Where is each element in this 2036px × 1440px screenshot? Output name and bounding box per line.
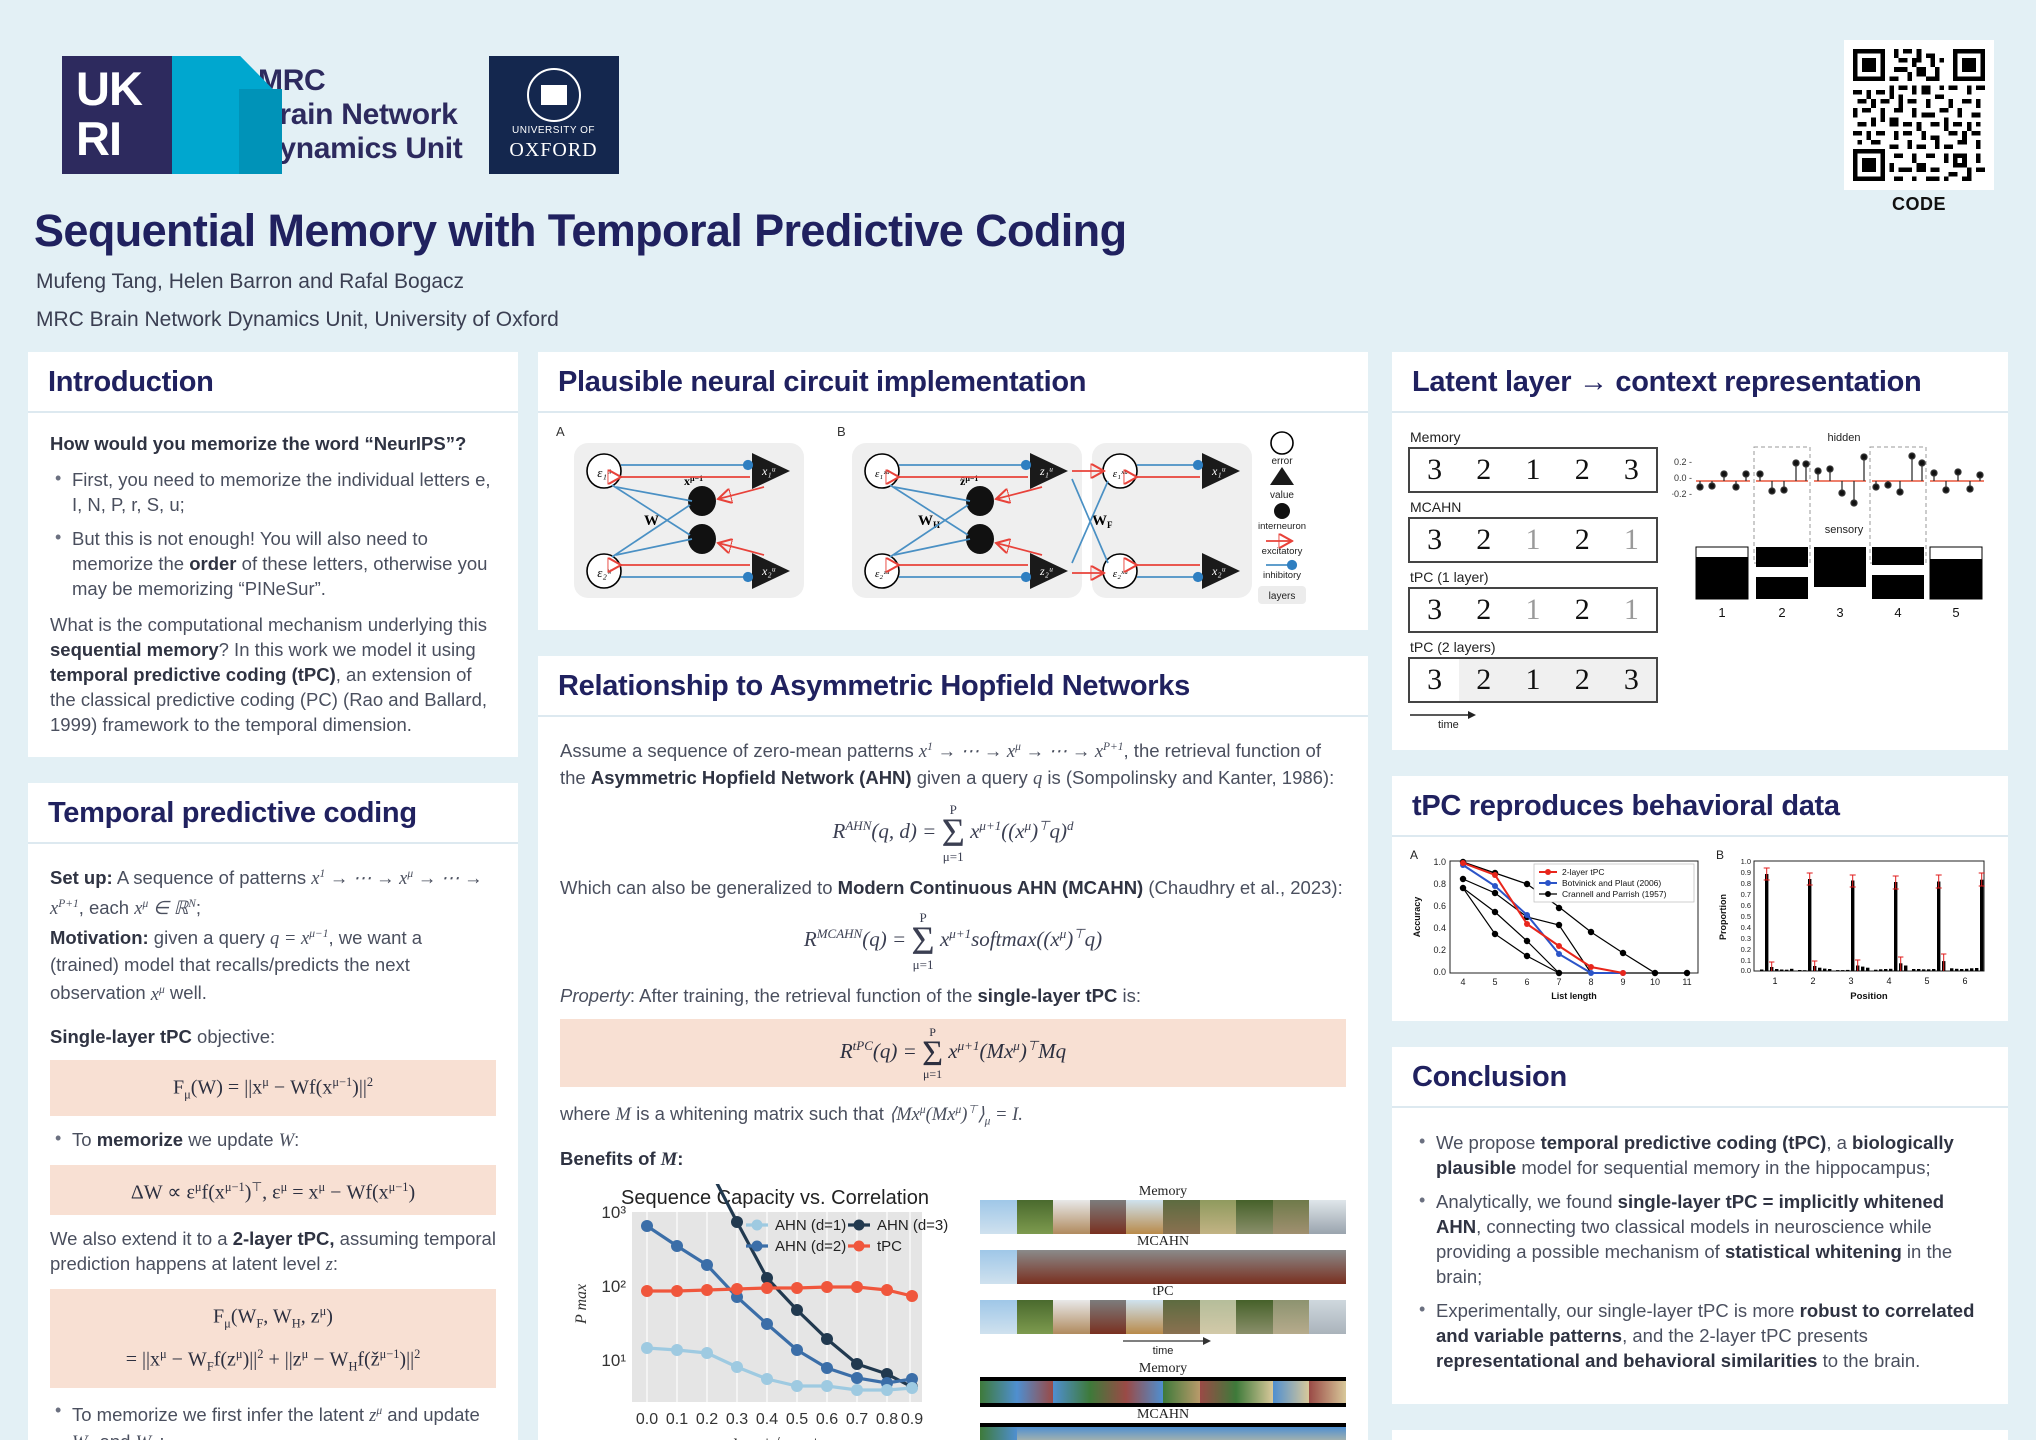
svg-text:0.9: 0.9 [1741, 868, 1751, 877]
strip-title-tpc-1: tPC [980, 1284, 1346, 1300]
behavior-card: tPC reproduces behavioral data A 1.00.80… [1392, 776, 2008, 1021]
svg-text:ε₂ˣᵘ: ε₂ˣᵘ [1113, 568, 1128, 580]
circuit-header: Plausible neural circuit implementation [538, 352, 1368, 413]
svg-text:5: 5 [1952, 605, 1959, 620]
svg-text:0.3: 0.3 [726, 1411, 748, 1428]
svg-text:z₂ᵘ: z₂ᵘ [1039, 564, 1053, 578]
svg-text:0.3: 0.3 [1741, 934, 1751, 943]
seq-row-memory: 32123 [1408, 447, 1658, 493]
list-item: We propose temporal predictive coding (t… [1414, 1130, 1986, 1180]
list-item: To memorize we first infer the latent zμ… [50, 1399, 496, 1440]
chart-xticks: 0.00.10.2 0.30.40.5 0.60.70.8 0.9 [636, 1411, 923, 1428]
svg-text:4: 4 [1894, 605, 1901, 620]
svg-text:0.0: 0.0 [1433, 967, 1446, 977]
behavior-charts: A 1.00.80.6 0.40.20.0 Accuracy 4567 8910… [1406, 847, 1994, 1007]
behavior-body: A 1.00.80.6 0.40.20.0 Accuracy 4567 8910… [1392, 837, 2008, 1021]
tpc-card: Temporal predictive coding Set up: A seq… [28, 783, 518, 1440]
panel-b-label: B [837, 424, 846, 439]
svg-text:8: 8 [1588, 977, 1593, 987]
circuit-card: Plausible neural circuit implementation … [538, 352, 1368, 630]
svg-text:10²: 10² [601, 1277, 626, 1296]
svg-text:4: 4 [1886, 976, 1891, 986]
svg-text:x₁ᵘ: x₁ᵘ [1211, 464, 1225, 478]
list-item: But this is not enough! You will also ne… [50, 526, 496, 601]
accuracy-legend: 2-layer tPC Botvinick and Plaut (2006) C… [1534, 864, 1694, 902]
tpc-body: Set up: A sequence of patterns x1 → ⋯ → … [28, 844, 518, 1440]
left-column: Introduction How would you memorize the … [28, 352, 518, 1440]
tpc-extend: We also extend it to a 2-layer tPC, assu… [50, 1226, 496, 1278]
svg-text:0.2: 0.2 [1433, 945, 1446, 955]
svg-text:AHN (d=1): AHN (d=1) [775, 1217, 846, 1234]
digit-sequences: Memory 32123 MCAHN 32121 tPC (1 layer) 3… [1408, 429, 1658, 734]
svg-text:ε₁ᵘ: ε₁ᵘ [597, 465, 612, 480]
ahn-header: Relationship to Asymmetric Hopfield Netw… [538, 656, 1368, 717]
latent-figure: Memory 32123 MCAHN 32121 tPC (1 layer) 3… [1408, 425, 1992, 736]
svg-text:z₁ᵘ: z₁ᵘ [1039, 464, 1053, 478]
svg-text:tPC: tPC [877, 1238, 902, 1255]
tpc-header: Temporal predictive coding [28, 783, 518, 844]
introduction-heading: Introduction [48, 366, 498, 399]
svg-text:4: 4 [1460, 977, 1465, 987]
svg-text:10: 10 [1650, 977, 1660, 987]
legend-value-icon [1270, 467, 1294, 485]
tpc-memorize-list: To memorize we update W: [50, 1127, 496, 1154]
mcahn-equation: RMCAHN(q) = PΣμ=1 xμ+1softmax((xμ)⊤q) [560, 911, 1346, 971]
seq-row-tpc2: 32123 [1408, 657, 1658, 703]
hidden-label: hidden [1827, 432, 1860, 444]
svg-text:1.0: 1.0 [1433, 857, 1446, 867]
time-label: time [1153, 1345, 1174, 1356]
affiliation-line: MRC Brain Network Dynamics Unit, Univers… [36, 308, 559, 332]
svg-text:0.1: 0.1 [1741, 956, 1751, 965]
svg-text:0.8: 0.8 [1741, 879, 1751, 888]
tpc-single-label: Single-layer tPC objective: [50, 1024, 496, 1049]
behavior-heading: tPC reproduces behavioral data [1412, 790, 1988, 823]
svg-text:0.8: 0.8 [1433, 879, 1446, 889]
svg-text:0.2: 0.2 [1741, 945, 1751, 954]
seq-label-1: MCAHN [1410, 499, 1658, 515]
conclusion-bullet-list: We propose temporal predictive coding (t… [1414, 1130, 1986, 1373]
latent-time-label: time [1438, 719, 1459, 729]
list-item: To memorize we update W: [50, 1127, 496, 1154]
svg-text:0.7: 0.7 [846, 1411, 868, 1428]
legend-interneuron-label: interneuron [1258, 521, 1306, 532]
ukri-mark-icon: UKRI [62, 56, 232, 174]
latent-header: Latent layer → context representation [1392, 352, 2008, 413]
svg-text:0.2: 0.2 [696, 1411, 718, 1428]
svg-text:9: 9 [1620, 977, 1625, 987]
seq-label-0: Memory [1410, 429, 1658, 445]
strip-mcahn-images [980, 1250, 1346, 1284]
svg-text:0.0: 0.0 [636, 1411, 658, 1428]
svg-text:2: 2 [1810, 976, 1815, 986]
strip-title-mcahn-1: MCAHN [980, 1234, 1346, 1250]
tpc-update-equation: ΔW ∝ εμf(xμ−1)⊤, εμ = xμ − Wf(xμ−1) [50, 1165, 496, 1215]
mrc-line-2: Brain Network [258, 98, 463, 132]
mrc-line-1: MRC [258, 64, 463, 98]
svg-text:0.8: 0.8 [876, 1411, 898, 1428]
accuracy-yticks: 1.00.80.6 0.40.20.0 [1433, 857, 1446, 977]
behavior-header: tPC reproduces behavioral data [1392, 776, 2008, 837]
proportion-chart: B 1.00.90.80.7 0.60.50.40.3 0.20.10.0 Pr… [1714, 847, 1994, 1007]
middle-column: Plausible neural circuit implementation … [538, 352, 1368, 1440]
svg-text:0.7: 0.7 [1741, 890, 1751, 899]
list-item: Analytically, we found single-layer tPC … [1414, 1189, 1986, 1289]
sensory-patterns [1696, 547, 1982, 599]
acknowledgements-card: Acknowledgements This work has been supp… [1392, 1430, 2008, 1440]
strip-memory-images [980, 1200, 1346, 1234]
svg-text:0.4: 0.4 [756, 1411, 778, 1428]
svg-text:x₂ᵘ: x₂ᵘ [761, 564, 775, 578]
poster-header: UKRI MRC Brain Network Dynamics Unit UNI… [0, 0, 2036, 340]
legend-inhibitory-label: inhibitory [1263, 570, 1301, 581]
time-arrow-1: time [980, 1334, 1346, 1356]
qr-code-block[interactable]: CODE [1844, 40, 1994, 215]
svg-text:ε₁ᶻᵘ: ε₁ᶻᵘ [875, 468, 890, 480]
oxford-line-1: UNIVERSITY OF [512, 125, 595, 136]
y-tick--0.2: −0.2 - [1672, 489, 1692, 499]
svg-text:x₂ᵘ: x₂ᵘ [1211, 564, 1225, 578]
latent-heading: Latent layer → context representation [1412, 366, 1988, 399]
qr-svg [1853, 49, 1985, 181]
proportion-xlabel: Position [1850, 991, 1888, 1002]
proportion-ylabel: Proportion [1718, 894, 1728, 940]
poster-root: UKRI MRC Brain Network Dynamics Unit UNI… [0, 0, 2036, 1440]
svg-text:Crannell and Parrish (1957): Crannell and Parrish (1957) [1562, 889, 1667, 899]
introduction-bullet-list: First, you need to memorize the individu… [50, 467, 496, 601]
accuracy-xlabel: List length [1551, 991, 1597, 1001]
authors-line: Mufeng Tang, Helen Barron and Rafal Boga… [36, 270, 464, 294]
svg-text:7: 7 [1556, 977, 1561, 987]
benefits-figures: Sequence Capacity vs. Correlation 10³ 10… [560, 1184, 1346, 1440]
strip-title-memory-1: Memory [980, 1184, 1346, 1200]
accuracy-xticks: 4567 891011 [1460, 977, 1691, 987]
legend-error-icon [1271, 432, 1293, 454]
seq-label-2: tPC (1 layer) [1410, 569, 1658, 585]
svg-text:0.6: 0.6 [1433, 901, 1446, 911]
panel-a-tag: A [1410, 848, 1418, 862]
acknowledgements-header: Acknowledgements [1392, 1430, 2008, 1440]
y-tick-0.2: 0.2 - [1674, 457, 1692, 467]
oxford-crest-icon [527, 68, 581, 122]
tpc-2layer-equation: Fμ(WF, WH, zμ)= ||xμ − WFf(zμ)||2 + ||zμ… [50, 1289, 496, 1388]
ukri-letters: UKRI [62, 56, 172, 174]
seq-row-mcahn: 32121 [1408, 517, 1658, 563]
sequence-capacity-chart: Sequence Capacity vs. Correlation 10³ 10… [560, 1184, 960, 1440]
mrc-line-3: Dynamics Unit [258, 132, 463, 166]
seq-row-tpc1: 32121 [1408, 587, 1658, 633]
chart-xlabel: b = |√corr̅| [732, 1436, 817, 1440]
list-item: Experimentally, our single-layer tPC is … [1414, 1298, 1986, 1373]
svg-text:0.1: 0.1 [666, 1411, 688, 1428]
ahn-intro: Assume a sequence of zero-mean patterns … [560, 735, 1346, 792]
ahn-card: Relationship to Asymmetric Hopfield Netw… [538, 656, 1368, 1440]
ahn-property: Property: After training, the retrieval … [560, 983, 1346, 1008]
tpc-objective-equation: Fμ(W) = ||xμ − Wf(xμ−1)||2 [50, 1060, 496, 1117]
svg-text:0.4: 0.4 [1741, 923, 1751, 932]
svg-text:0.0: 0.0 [1741, 966, 1751, 975]
strip-title-memory-2: Memory [980, 1361, 1346, 1377]
introduction-header: Introduction [28, 352, 518, 413]
svg-text:3: 3 [1848, 976, 1853, 986]
svg-text:Botvinick and Plaut (2006): Botvinick and Plaut (2006) [1562, 878, 1661, 888]
legend-error-label: error [1271, 456, 1293, 467]
svg-text:AHN (d=2): AHN (d=2) [775, 1238, 846, 1255]
legend-layers-label: layers [1269, 591, 1296, 602]
introduction-paragraph: What is the computational mechanism unde… [50, 612, 496, 737]
ahn-equation: RAHN(q, d) = PΣμ=1 xμ+1((xμ)⊤q)d [560, 803, 1346, 863]
svg-text:0.9: 0.9 [901, 1411, 923, 1428]
legend-excitatory-label: excitatory [1262, 546, 1303, 557]
svg-text:5: 5 [1924, 976, 1929, 986]
introduction-body: How would you memorize the word “NeurIPS… [28, 413, 518, 757]
oxford-logo: UNIVERSITY OF OXFORD [489, 56, 619, 174]
mrc-wordmark: MRC Brain Network Dynamics Unit [258, 64, 463, 166]
svg-text:0.4: 0.4 [1433, 923, 1446, 933]
svg-text:10¹: 10¹ [601, 1351, 626, 1370]
latent-body: Memory 32123 MCAHN 32121 tPC (1 layer) 3… [1392, 413, 2008, 750]
sensory-xticks: 123 45 [1718, 605, 1959, 620]
legend-interneuron-icon [1274, 503, 1290, 519]
svg-text:2: 2 [1778, 605, 1785, 620]
chart-title: Sequence Capacity vs. Correlation [621, 1187, 929, 1209]
svg-text:6: 6 [1524, 977, 1529, 987]
accuracy-ylabel: Accuracy [1412, 897, 1422, 938]
panel-b-tag: B [1716, 848, 1724, 862]
svg-text:0.5: 0.5 [1741, 912, 1751, 921]
svg-text:ε₂ᵘ: ε₂ᵘ [597, 565, 612, 580]
strip-tpc-images [980, 1300, 1346, 1334]
proportion-xticks: 123 456 [1772, 976, 1967, 986]
ahn-generalize: Which can also be generalized to Modern … [560, 875, 1346, 900]
oxford-line-2: OXFORD [509, 139, 597, 162]
svg-text:3: 3 [1836, 605, 1843, 620]
sensory-label: sensory [1825, 524, 1864, 536]
proportion-yticks: 1.00.90.80.7 0.60.50.40.3 0.20.10.0 [1741, 857, 1751, 975]
accuracy-chart: A 1.00.80.6 0.40.20.0 Accuracy 4567 8910… [1406, 847, 1706, 1007]
conclusion-body: We propose temporal predictive coding (t… [1392, 1108, 2008, 1404]
logo-group: UKRI MRC Brain Network Dynamics Unit UNI… [62, 56, 619, 174]
svg-text:ε₁ˣᵘ: ε₁ˣᵘ [1113, 468, 1128, 480]
tpc-retrieval-equation: RtPC(q) = PΣμ=1 xμ+1(Mxμ)⊤Mq [560, 1019, 1346, 1087]
right-column: Latent layer → context representation Me… [1392, 352, 2008, 1440]
ukri-logo: UKRI [62, 56, 232, 174]
svg-text:5: 5 [1492, 977, 1497, 987]
hidden-sensory-figure: hidden 0.2 - 0.0 - −0.2 - [1672, 429, 1992, 629]
ahn-body: Assume a sequence of zero-mean patterns … [538, 717, 1368, 1440]
latent-card: Latent layer → context representation Me… [1392, 352, 2008, 750]
introduction-card: Introduction How would you memorize the … [28, 352, 518, 757]
conclusion-header: Conclusion [1392, 1047, 2008, 1108]
introduction-question: How would you memorize the word “NeurIPS… [50, 431, 496, 456]
y-tick-0.0: 0.0 - [1674, 473, 1692, 483]
svg-text:2-layer tPC: 2-layer tPC [1562, 867, 1605, 877]
strip-title-mcahn-2: MCAHN [980, 1407, 1346, 1423]
tpc-infer-list: To memorize we first infer the latent zμ… [50, 1399, 496, 1440]
svg-text:1: 1 [1772, 976, 1777, 986]
panel-a-label: A [556, 424, 565, 439]
vstrip-mcahn [980, 1423, 1346, 1440]
ahn-whitening: where M is a whitening matrix such that … [560, 1098, 1346, 1135]
page-title: Sequential Memory with Temporal Predicti… [34, 205, 1126, 257]
image-recall-figure: Memory MCAHN [980, 1184, 1346, 1440]
conclusion-card: Conclusion We propose temporal predictiv… [1392, 1047, 2008, 1404]
latent-time-arrow: time [1408, 709, 1528, 729]
svg-text:1: 1 [1718, 605, 1725, 620]
svg-text:x₁ᵘ: x₁ᵘ [761, 464, 775, 478]
qr-code-label: CODE [1844, 194, 1994, 215]
svg-text:0.6: 0.6 [1741, 901, 1751, 910]
svg-text:11: 11 [1682, 977, 1691, 987]
circuit-diagram: A B ε₁ᵘ ε₂ᵘ x₁ᵘ x₂ᵘ xμ−1 W [552, 423, 1352, 613]
circuit-body: A B ε₁ᵘ ε₂ᵘ x₁ᵘ x₂ᵘ xμ−1 W [538, 413, 1368, 630]
circuit-heading: Plausible neural circuit implementation [558, 366, 1348, 399]
svg-text:10³: 10³ [601, 1203, 626, 1222]
list-item: First, you need to memorize the individu… [50, 467, 496, 517]
svg-text:0.6: 0.6 [816, 1411, 838, 1428]
tpc-setup: Set up: A sequence of patterns x1 → ⋯ → … [50, 862, 496, 1008]
qr-code-icon[interactable] [1844, 40, 1994, 190]
svg-text:ε₂ᶻᵘ: ε₂ᶻᵘ [875, 568, 890, 580]
ahn-benefits: Benefits of M: [560, 1146, 1346, 1173]
svg-text:6: 6 [1962, 976, 1967, 986]
ahn-heading: Relationship to Asymmetric Hopfield Netw… [558, 670, 1348, 703]
seq-label-3: tPC (2 layers) [1410, 639, 1658, 655]
conclusion-heading: Conclusion [1412, 1061, 1988, 1094]
svg-text:AHN (d=3): AHN (d=3) [877, 1217, 948, 1234]
svg-text:1.0: 1.0 [1741, 857, 1751, 866]
chart-ylabel: P max [573, 1284, 590, 1325]
vstrip-memory [980, 1377, 1346, 1407]
legend-value-label: value [1270, 490, 1294, 501]
svg-text:0.5: 0.5 [786, 1411, 808, 1428]
tpc-heading: Temporal predictive coding [48, 797, 498, 830]
